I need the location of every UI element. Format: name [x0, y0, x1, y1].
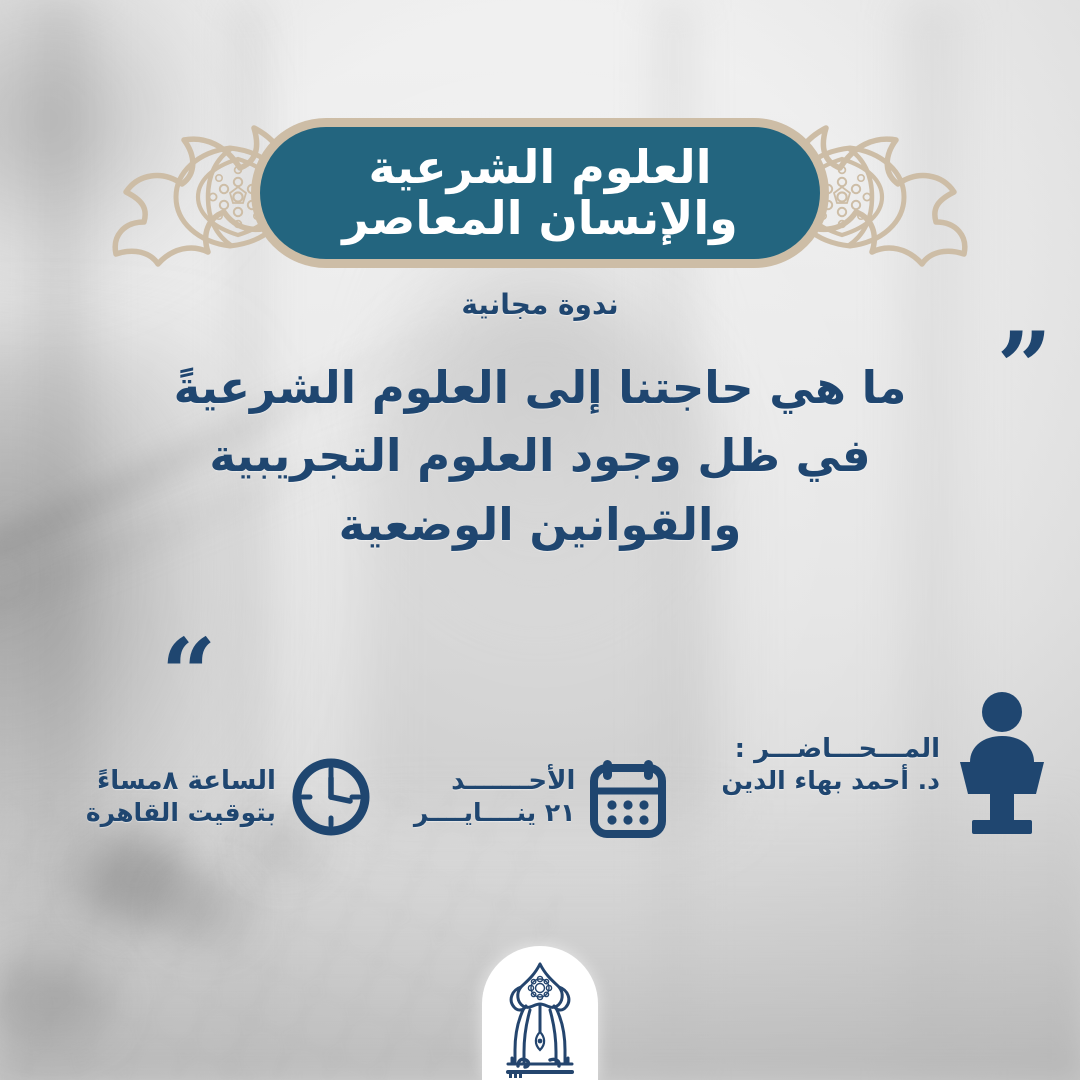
- quote-block: ” ما هي حاجتنا إلى العلوم الشرعيةً في ظل…: [0, 330, 1080, 650]
- quote-line-3: والقوانين الوضعية: [60, 491, 1020, 559]
- poster-header: العلوم الشرعية والإنسان المعاصر: [0, 104, 1080, 294]
- clock-icon: [290, 754, 372, 840]
- speaker-text: المـــحـــاضـــر : د. أحمد بهاء الدين: [721, 734, 940, 796]
- time-text: الساعة ٨مساءً بتوقيت القاهرة: [86, 766, 276, 828]
- speaker-name: د. أحمد بهاء الدين: [721, 766, 940, 797]
- title-line-2: والإنسان المعاصر: [342, 194, 737, 243]
- speaker-label: المـــحـــاضـــر :: [721, 734, 940, 766]
- mosque-arch-logo-icon: [488, 954, 592, 1080]
- title-badge: العلوم الشرعية والإنسان المعاصر: [251, 118, 829, 268]
- quote-line-1: ما هي حاجتنا إلى العلوم الشرعيةً: [60, 354, 1020, 422]
- event-time: الساعة ٨مساءً: [86, 766, 276, 798]
- organization-logo: [482, 946, 598, 1080]
- podium-speaker-icon: [954, 690, 1050, 840]
- event-info-row: المـــحـــاضـــر : د. أحمد بهاء الدين ال…: [0, 640, 1080, 840]
- speaker-info: المـــحـــاضـــر : د. أحمد بهاء الدين: [721, 690, 1050, 840]
- calendar-icon: [589, 754, 667, 840]
- date-info: الأحـــــــد ٢١ ينــــايــــر: [414, 754, 668, 840]
- quote-line-2: في ظل وجود العلوم التجريبية: [60, 422, 1020, 490]
- title-line-1: العلوم الشرعية: [369, 143, 712, 192]
- event-date: ٢١ ينــــايــــر: [414, 798, 576, 829]
- event-day: الأحـــــــد: [414, 766, 576, 798]
- date-text: الأحـــــــد ٢١ ينــــايــــر: [414, 766, 576, 828]
- subtitle: ندوة مجانية: [0, 288, 1080, 321]
- poster-canvas: العلوم الشرعية والإنسان المعاصر ندوة مجا…: [0, 0, 1080, 1080]
- event-timezone: بتوقيت القاهرة: [86, 798, 276, 829]
- quote-text: ما هي حاجتنا إلى العلوم الشرعيةً في ظل و…: [60, 354, 1020, 559]
- time-info: الساعة ٨مساءً بتوقيت القاهرة: [86, 754, 372, 840]
